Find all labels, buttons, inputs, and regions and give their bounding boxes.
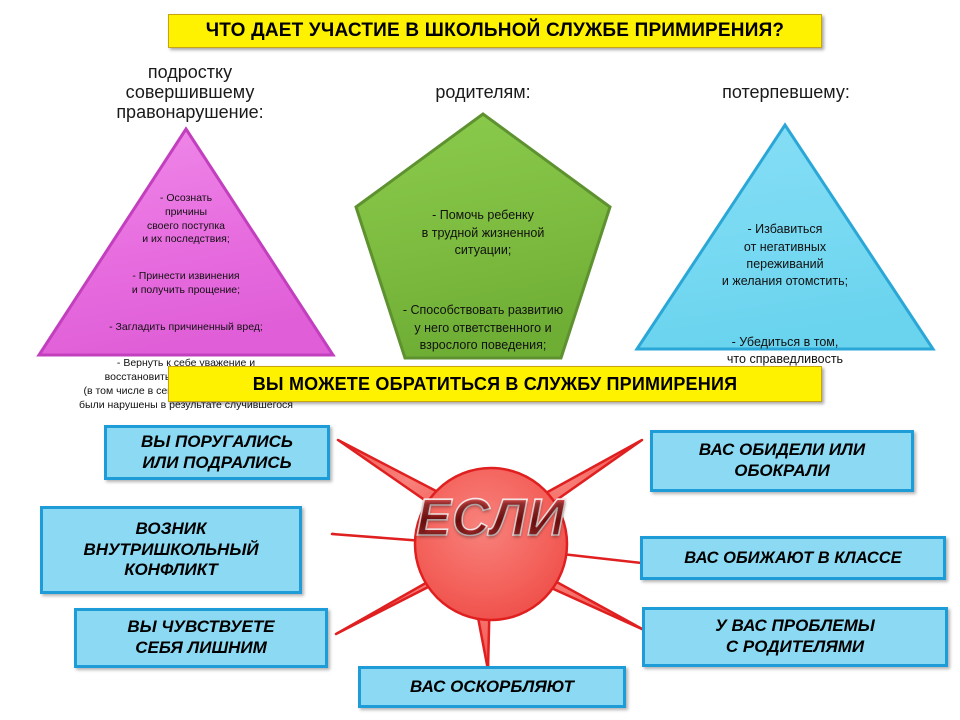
cyan-triangle-polygon (637, 125, 933, 349)
column-caption-offender: подростку совершившему правонарушение: (45, 62, 335, 122)
case-box-insulted[interactable]: ВАС ОСКОРБЛЯЮТ (358, 666, 626, 708)
case-box-quarrel[interactable]: ВЫ ПОРУГАЛИСЬ ИЛИ ПОДРАЛИСЬ (104, 425, 330, 480)
star-center-circle (415, 468, 567, 620)
green-pentagon-svg (352, 110, 614, 364)
title-banner-top: ЧТО ДАЕТ УЧАСТИЕ В ШКОЛЬНОЙ СЛУЖБЕ ПРИМИ… (168, 14, 822, 48)
red-star-svg (330, 418, 652, 674)
infographic-poster: ЧТО ДАЕТ УЧАСТИЕ В ШКОЛЬНОЙ СЛУЖБЕ ПРИМИ… (0, 0, 960, 720)
case-box-bullied-in-class[interactable]: ВАС ОБИЖАЮТ В КЛАССЕ (640, 536, 946, 580)
column-caption-victim: потерпевшему: (640, 82, 932, 102)
case-box-school-conflict[interactable]: ВОЗНИК ВНУТРИШКОЛЬНЫЙ КОНФЛИКТ (40, 506, 302, 594)
red-star-shape (330, 418, 652, 674)
case-box-offended-or-robbed[interactable]: ВАС ОБИДЕЛИ ИЛИ ОБОКРАЛИ (650, 430, 914, 492)
pink-triangle-polygon (39, 129, 333, 355)
green-pentagon-polygon (356, 114, 610, 358)
cyan-triangle-svg (634, 122, 936, 352)
cyan-triangle-shape (634, 122, 936, 352)
column-caption-parents: родителям: (358, 82, 608, 102)
pink-triangle-shape (36, 126, 336, 358)
case-box-parent-problems[interactable]: У ВАС ПРОБЛЕМЫ С РОДИТЕЛЯМИ (642, 607, 948, 667)
green-pentagon-shape (352, 110, 614, 364)
pink-triangle-svg (36, 126, 336, 358)
case-box-feel-excluded[interactable]: ВЫ ЧУВСТВУЕТЕ СЕБЯ ЛИШНИМ (74, 608, 328, 668)
title-banner-middle: ВЫ МОЖЕТЕ ОБРАТИТЬСЯ В СЛУЖБУ ПРИМИРЕНИЯ (168, 366, 822, 402)
